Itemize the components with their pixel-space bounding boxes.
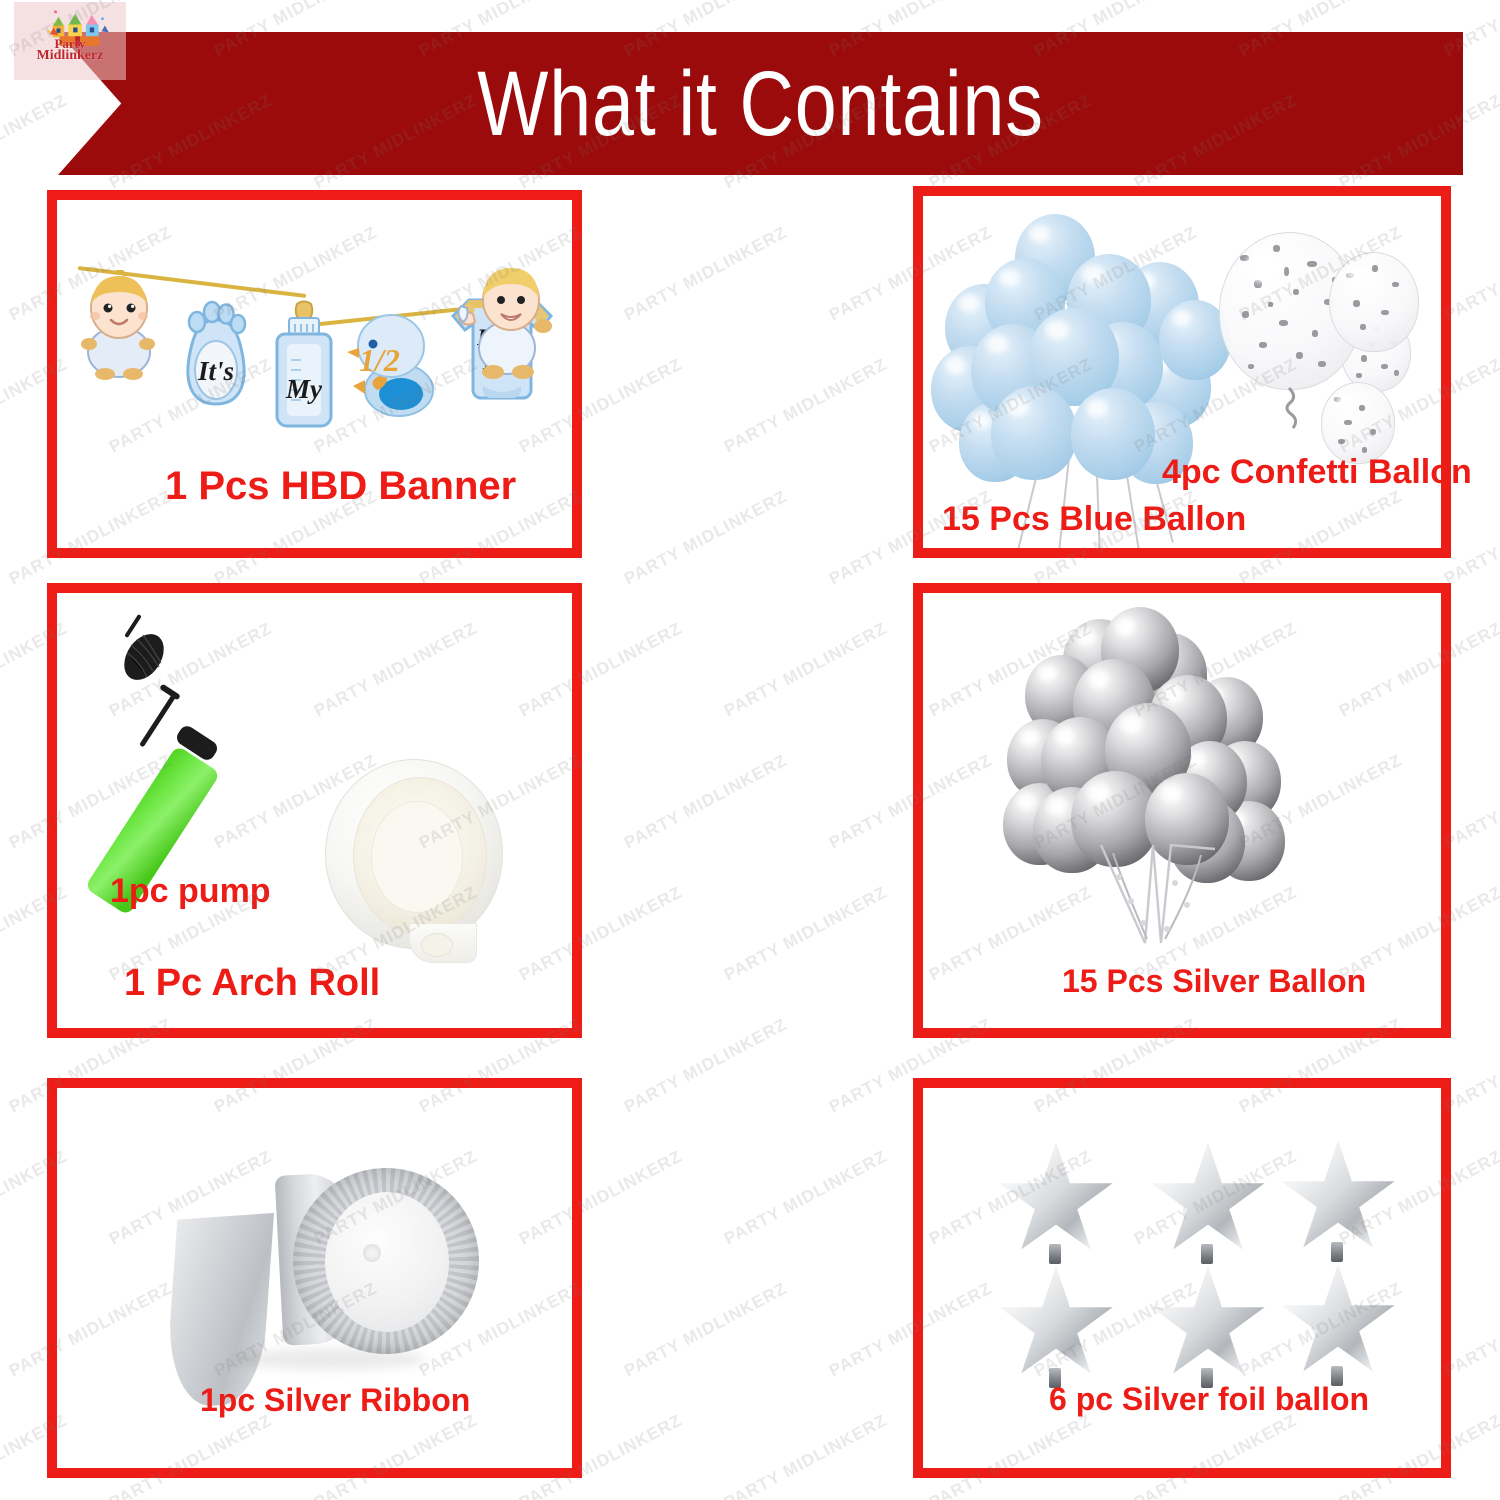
- watermark-text: PARTY MIDLINKERZ: [721, 1411, 891, 1500]
- label-pump: 1pc pump: [110, 872, 271, 911]
- label-foil-balloon: 6 pc Silver foil ballon: [1049, 1381, 1369, 1418]
- balloon-ties-icon: [1083, 843, 1233, 953]
- banner-flag-text-its: It's: [179, 356, 253, 387]
- banner-flag-duck: 1/2: [345, 306, 441, 424]
- ribbon-spool-face: [325, 1192, 449, 1332]
- watermark-text: PARTY MIDLINKERZ: [621, 223, 791, 326]
- brand-name-line2: Midlinkerz: [14, 50, 126, 62]
- banner-flag-text-my: My: [269, 374, 339, 405]
- label-blue-balloon: 15 Pcs Blue Ballon: [942, 500, 1246, 539]
- product-box-foil-balloon: [913, 1078, 1451, 1478]
- blue-balloon-artwork: [923, 196, 1441, 548]
- banner-flag-footprint: It's: [179, 286, 253, 406]
- watermark-text: PARTY MIDLINKERZ: [721, 1147, 891, 1250]
- star-balloon-neck: [1331, 1242, 1343, 1262]
- baby-right-icon: [455, 260, 555, 380]
- blue-balloon: [991, 386, 1077, 480]
- label-arch-roll: 1 Pc Arch Roll: [124, 962, 380, 1005]
- silver-star-foil-balloon: [1279, 1140, 1397, 1258]
- label-silver-ribbon: 1pc Silver Ribbon: [200, 1382, 470, 1419]
- blue-balloon: [1071, 388, 1155, 480]
- silver-star-foil-balloon: [1149, 1266, 1267, 1384]
- header-title-wrap: What it Contains: [58, 32, 1463, 175]
- ribbon-tail: [164, 1213, 274, 1409]
- silver-star-foil-balloon: [997, 1266, 1115, 1384]
- baby-left-icon: [75, 270, 163, 380]
- watermark-text: PARTY MIDLINKERZ: [621, 487, 791, 590]
- label-silver-balloon: 15 Pcs Silver Ballon: [1062, 963, 1366, 1000]
- confetti-balloon: [1321, 382, 1395, 464]
- silver-star-foil-balloon: [997, 1142, 1115, 1260]
- banner-flag-bottle: My: [269, 300, 339, 432]
- ribbon-spool-hole: [363, 1244, 381, 1262]
- confetti-balloon: [1329, 252, 1419, 352]
- label-confetti-balloon: 4pc Confetti Ballon: [1162, 453, 1472, 492]
- watermark-text: PARTY MIDLINKERZ: [721, 883, 891, 986]
- watermark-text: PARTY MIDLINKERZ: [621, 751, 791, 854]
- silver-star-foil-balloon: [1279, 1264, 1397, 1382]
- star-balloon-neck: [1049, 1244, 1061, 1264]
- watermark-text: PARTY MIDLINKERZ: [621, 1279, 791, 1382]
- label-hbd-banner: 1 Pcs HBD Banner: [165, 464, 516, 509]
- silver-star-foil-balloon: [1149, 1142, 1267, 1260]
- ribbon-shadow: [237, 1348, 427, 1370]
- brand-logo: Party Midlinkerz: [14, 2, 126, 80]
- banner-flag-text-half: 1/2: [359, 342, 400, 379]
- watermark-text: PARTY MIDLINKERZ: [721, 619, 891, 722]
- star-balloon-neck: [1201, 1244, 1213, 1264]
- watermark-text: PARTY MIDLINKERZ: [621, 1015, 791, 1118]
- confetti-balloon-curl-icon: [1275, 386, 1309, 434]
- watermark-text: PARTY MIDLINKERZ: [721, 355, 891, 458]
- brand-name: Party Midlinkerz: [14, 38, 126, 62]
- page-title: What it Contains: [477, 58, 1044, 150]
